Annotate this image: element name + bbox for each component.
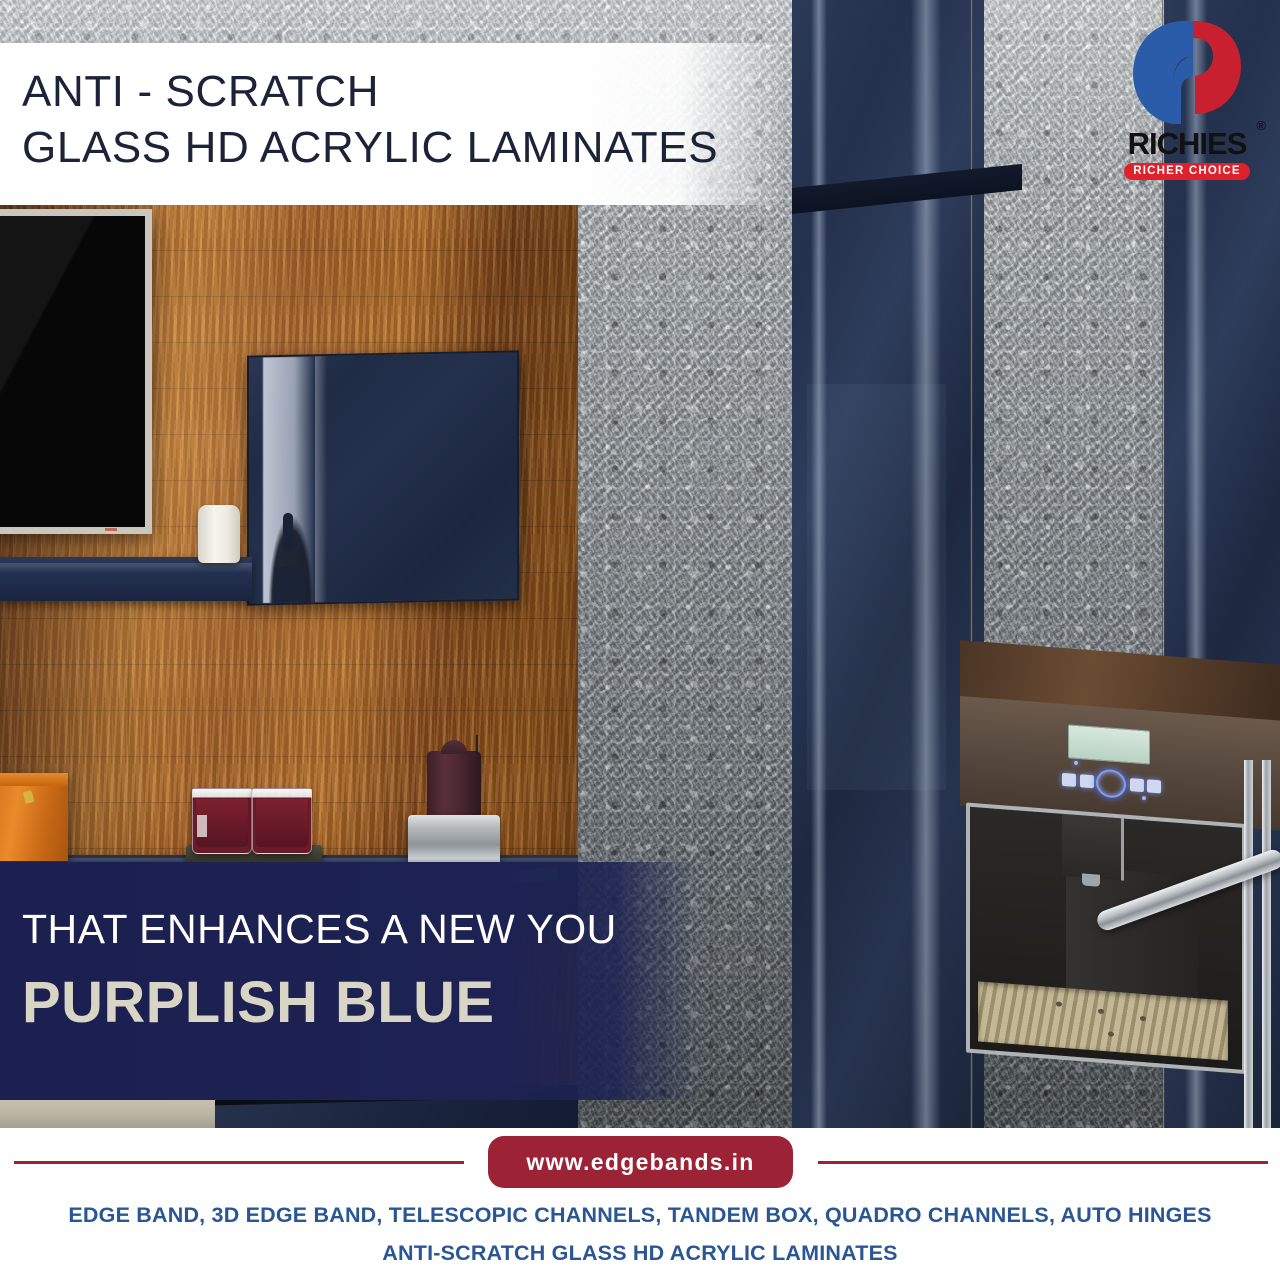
television-screen bbox=[0, 209, 152, 534]
coffee-machine-cavity bbox=[966, 802, 1246, 1074]
panel-reflected-lamp bbox=[283, 513, 293, 551]
website-url-button[interactable]: www.edgebands.in bbox=[488, 1136, 793, 1188]
chrome-trim-strip bbox=[1244, 760, 1253, 1128]
tv-indicator-led bbox=[105, 528, 117, 531]
oven-dial-knob[interactable] bbox=[1096, 768, 1126, 798]
white-candle-vase bbox=[198, 505, 240, 563]
red-candle-glass bbox=[192, 788, 252, 854]
steel-candle-holder bbox=[408, 815, 500, 869]
headline-line-1: ANTI - SCRATCH bbox=[22, 64, 762, 120]
glass-rim bbox=[253, 789, 311, 797]
cabinet-door-middle bbox=[792, 0, 984, 1128]
product-list-line-1: EDGE BAND, 3D EDGE BAND, TELESCOPIC CHAN… bbox=[0, 1203, 1280, 1228]
drip-hole bbox=[1108, 1031, 1114, 1036]
banner-subtitle: THAT ENHANCES A NEW YOU bbox=[22, 906, 617, 953]
pillar-candle bbox=[427, 751, 481, 825]
oven-display-screen bbox=[1068, 724, 1150, 764]
shelf-gloss-highlight bbox=[0, 563, 252, 573]
logo-brand-name: RICHIES bbox=[1128, 126, 1247, 161]
product-list-line-2: ANTI-SCRATCH GLASS HD ACRYLIC LAMINATES bbox=[0, 1241, 1280, 1266]
cabinet-reflection-block bbox=[807, 384, 945, 790]
box-lid bbox=[0, 773, 68, 786]
box-latch bbox=[23, 790, 35, 804]
chrome-trim-strip bbox=[1262, 760, 1271, 1128]
brand-logo[interactable]: RICHIES ® RICHER CHOICE bbox=[1112, 18, 1262, 188]
oven-button[interactable] bbox=[1062, 773, 1076, 787]
oven-button[interactable] bbox=[1130, 778, 1144, 792]
footer-rule-left bbox=[14, 1161, 464, 1164]
poster: ANTI - SCRATCH GLASS HD ACRYLIC LAMINATE… bbox=[0, 0, 1280, 1280]
footer-rule-right bbox=[818, 1161, 1268, 1164]
drip-hole bbox=[1140, 1016, 1146, 1021]
red-candle-glass bbox=[252, 788, 312, 854]
oven-button[interactable] bbox=[1147, 779, 1161, 793]
candle-label bbox=[197, 815, 207, 837]
headline-line-2: GLASS HD ACRYLIC LAMINATES bbox=[22, 120, 762, 176]
panel-reflected-base bbox=[274, 567, 304, 604]
orange-wooden-box bbox=[0, 773, 68, 861]
glossy-acrylic-panel bbox=[247, 350, 519, 605]
panel-reflection-edge bbox=[315, 356, 327, 602]
registered-trademark-icon: ® bbox=[1256, 119, 1265, 132]
oven-indicator-dot bbox=[1142, 796, 1146, 800]
logo-wordmark: RICHIES ® bbox=[1112, 128, 1262, 159]
oven-indicator-dot bbox=[1074, 761, 1078, 765]
candle-wick bbox=[476, 735, 478, 752]
tv-glare bbox=[0, 216, 145, 527]
richies-logo-mark-icon bbox=[1123, 18, 1251, 128]
oven-control-cluster[interactable] bbox=[1056, 765, 1160, 801]
drip-hole bbox=[1098, 1009, 1104, 1014]
drip-hole bbox=[1056, 1001, 1062, 1006]
banner-product-name: PURPLISH BLUE bbox=[22, 969, 494, 1036]
candle-wax bbox=[256, 799, 308, 847]
coffee-spout bbox=[1082, 873, 1100, 886]
product-photo: ANTI - SCRATCH GLASS HD ACRYLIC LAMINATE… bbox=[0, 0, 1280, 1128]
footer-bar: www.edgebands.in EDGE BAND, 3D EDGE BAND… bbox=[0, 1128, 1280, 1280]
upper-console-shelf bbox=[0, 557, 252, 601]
logo-tagline: RICHER CHOICE bbox=[1124, 163, 1250, 180]
oven-button[interactable] bbox=[1080, 774, 1094, 788]
headline-text: ANTI - SCRATCH GLASS HD ACRYLIC LAMINATE… bbox=[22, 64, 762, 176]
coffee-spout-housing bbox=[1062, 814, 1124, 881]
promo-banner: THAT ENHANCES A NEW YOU PURPLISH BLUE bbox=[0, 862, 700, 1100]
glass-rim bbox=[193, 789, 251, 797]
